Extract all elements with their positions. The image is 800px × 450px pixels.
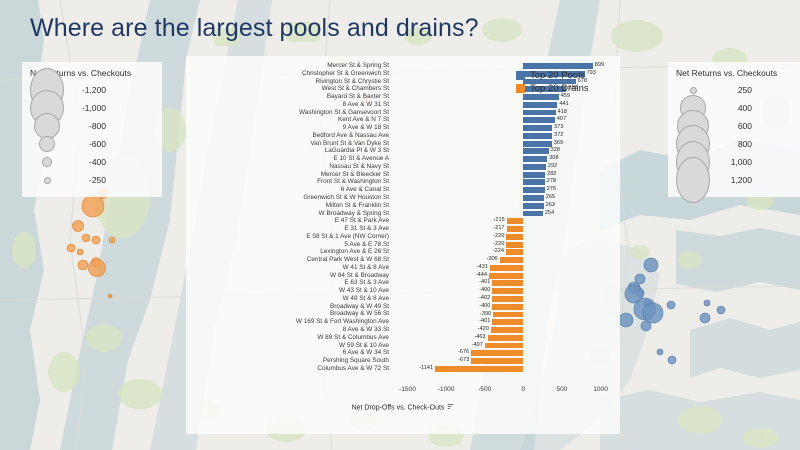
legend-right-value: 250 (710, 85, 752, 95)
bar-value-label: -673 (458, 357, 469, 365)
bar-track: 441 (392, 101, 616, 109)
bar-pool[interactable] (523, 125, 552, 131)
bar-pool[interactable] (523, 195, 543, 201)
legend-left-bubble-cell (30, 177, 64, 184)
page-title: Where are the largest pools and drains? (30, 14, 479, 43)
series-legend: Top 20 Pools Top 20 Drains (516, 70, 589, 96)
sort-ascending-icon[interactable] (447, 403, 454, 412)
bar-value-label: -390 (480, 311, 491, 319)
bar-track: 263 (392, 202, 616, 210)
bar-category-label: W 84 St & Broadway (186, 272, 389, 280)
bar-value-label: -431 (477, 264, 488, 272)
bar-pool[interactable] (523, 172, 545, 178)
map-bubble-pool[interactable] (700, 313, 710, 323)
map-bubble-pool[interactable] (641, 321, 651, 331)
bar-track: 292 (392, 163, 616, 171)
slide-root: Where are the largest pools and drains? … (0, 0, 800, 450)
bar-row[interactable]: E 58 St & 1 Ave (NW Corner)-220 (186, 233, 620, 241)
bar-category-label: E 47 St & Park Ave (186, 217, 389, 225)
map-bubble-drain[interactable] (73, 221, 84, 232)
legend-right-title: Net Returns vs. Checkouts (676, 68, 796, 78)
bar-row[interactable]: E 10 St & Avenue A308 (186, 155, 620, 163)
bar-value-label: -400 (479, 303, 490, 311)
x-axis-tick-label: 1000 (593, 386, 608, 393)
bar-category-label: W 169 St & Fort Washington Ave (186, 318, 389, 326)
bar-track: -673 (392, 357, 616, 365)
bar-category-label: 5 Ave & E 78 St (186, 241, 389, 249)
bar-track: 407 (392, 116, 616, 124)
map-bubble-pool[interactable] (644, 258, 658, 272)
bar-row[interactable]: W 169 St & Fort Washington Ave-401 (186, 318, 620, 326)
bar-chart-bars: Mercer St & Spring St899Christopher St &… (186, 62, 620, 392)
bar-drain[interactable] (506, 234, 523, 240)
legend-left-row: -600 (30, 135, 154, 153)
bar-row[interactable]: Van Brunt St & Van Dyke St369 (186, 140, 620, 148)
legend-net-returns-left: Net Returns vs. Checkouts -1,200-1,000-8… (22, 62, 162, 197)
legend-right-value: 1,200 (710, 175, 752, 185)
bar-value-label: 373 (554, 124, 563, 132)
legend-right-value: 1,000 (710, 157, 752, 167)
map-bubble-pool[interactable] (667, 301, 675, 309)
bar-row[interactable]: 9 Ave & W 18 St373 (186, 124, 620, 132)
bar-drain[interactable] (492, 296, 523, 302)
bar-track: -215 (392, 217, 616, 225)
bar-track: -420 (392, 326, 616, 334)
bar-drain[interactable] (435, 366, 523, 372)
bar-category-label: Pershing Square South (186, 357, 389, 365)
x-axis-tick-label: 500 (556, 386, 567, 393)
bar-drain[interactable] (471, 350, 523, 356)
bar-row[interactable]: 8 Ave & W 33 St-420 (186, 326, 620, 334)
bar-track: -444 (392, 272, 616, 280)
bar-value-label: -220 (493, 241, 504, 249)
bar-row[interactable]: Front St & Washington St278 (186, 178, 620, 186)
bar-drain[interactable] (506, 242, 523, 248)
bar-value-label: 276 (547, 186, 556, 194)
bar-drain[interactable] (492, 319, 523, 325)
x-axis-tick-label: 0 (521, 386, 525, 393)
legend-right-bubble-cell (676, 157, 710, 203)
bar-value-label: 372 (554, 132, 563, 140)
bar-row[interactable]: Milton St & Franklin St263 (186, 202, 620, 210)
bar-row[interactable]: Broadway & W 56 St-390 (186, 311, 620, 319)
bar-category-label: W Broadway & Spring St (186, 210, 389, 218)
legend-swatch-drains (516, 84, 525, 93)
bar-row[interactable]: Bedford Ave & Nassau Ave372 (186, 132, 620, 140)
bar-row[interactable]: Columbus Ave & W 72 St-1141 (186, 365, 620, 373)
bar-track: -497 (392, 342, 616, 350)
legend-right-value: 600 (710, 121, 752, 131)
legend-left-value: -250 (64, 175, 106, 185)
bar-drain[interactable] (491, 327, 523, 333)
bar-track: -676 (392, 349, 616, 357)
legend-right-bubble (690, 87, 697, 94)
bar-category-label: Bayard St & Baxter St (186, 93, 389, 101)
bar-category-label: W 49 St & 8 Ave (186, 295, 389, 303)
bar-drain[interactable] (492, 280, 523, 286)
bar-value-label: -402 (479, 295, 490, 303)
legend-left-row: -800 (30, 117, 154, 135)
bar-category-label: Kent Ave & N 7 St (186, 116, 389, 124)
bar-pool[interactable] (523, 156, 547, 162)
bar-row[interactable]: E 63 St & 3 Ave-401 (186, 279, 620, 287)
bar-category-label: Broadway & W 49 St (186, 303, 389, 311)
bar-row[interactable]: Greenwich St & W Houston St265 (186, 194, 620, 202)
x-axis-tick-label: -1000 (438, 386, 455, 393)
bar-drain[interactable] (488, 335, 524, 341)
bar-track: -402 (392, 295, 616, 303)
bar-pool[interactable] (523, 110, 555, 116)
bar-drain[interactable] (492, 288, 523, 294)
bar-track: -431 (392, 264, 616, 272)
map-bubble-drain[interactable] (109, 237, 115, 243)
bar-value-label: -306 (486, 256, 497, 264)
x-axis-title-text: Net Drop-Offs vs. Check-Outs (352, 404, 445, 411)
legend-left-bubble (42, 157, 52, 167)
bar-track: 899 (392, 62, 616, 70)
bar-category-label: Mercer St & Bleecker St (186, 171, 389, 179)
bar-category-label: Front St & Washington St (186, 178, 389, 186)
bar-track: 276 (392, 186, 616, 194)
bar-track: -400 (392, 287, 616, 295)
bar-value-label: -463 (474, 334, 485, 342)
bar-row[interactable]: Central Park West & W 68 St-306 (186, 256, 620, 264)
bar-value-label: 282 (547, 171, 556, 179)
bar-value-label: 899 (595, 62, 604, 70)
bar-value-label: 308 (549, 155, 558, 163)
bar-value-label: -1141 (419, 365, 433, 373)
legend-right-value: 800 (710, 139, 752, 149)
bar-pool[interactable] (523, 117, 554, 123)
bar-track: -220 (392, 233, 616, 241)
map-bubble-drain[interactable] (108, 294, 112, 298)
bar-track: -390 (392, 311, 616, 319)
legend-left-value: -400 (64, 157, 106, 167)
legend-left-value: -1,200 (64, 85, 106, 95)
bar-value-label: -444 (476, 272, 487, 280)
bar-category-label: 9 Ave & W 18 St (186, 124, 389, 132)
map-bubble-pool[interactable] (657, 349, 663, 355)
bar-value-label: 263 (546, 202, 555, 210)
bar-drain[interactable] (485, 343, 523, 349)
bar-value-label: 278 (547, 178, 556, 186)
bar-drain[interactable] (493, 312, 523, 318)
bar-pool[interactable] (523, 211, 543, 217)
bar-drain[interactable] (507, 226, 524, 232)
bar-drain[interactable] (489, 273, 523, 279)
bar-track: 328 (392, 147, 616, 155)
bar-value-label: -400 (479, 287, 490, 295)
legend-label-drains: Top 20 Drains (530, 83, 589, 94)
legend-swatch-pools (516, 71, 525, 80)
legend-left-row: -400 (30, 153, 154, 171)
bar-track: -217 (392, 225, 616, 233)
bar-track: -220 (392, 241, 616, 249)
map-bubble-pool[interactable] (643, 303, 663, 323)
map-bubble-pool[interactable] (668, 356, 676, 364)
map-bubble-drain[interactable] (77, 249, 83, 255)
bar-track: -400 (392, 303, 616, 311)
bar-value-label: -401 (479, 318, 490, 326)
legend-right-value: 400 (710, 103, 752, 113)
legend-left-rows: -1,200-1,000-800-600-400-250 (30, 81, 154, 189)
x-axis-tick-label: -1500 (399, 386, 416, 393)
bar-category-label: E 31 St & 3 Ave (186, 225, 389, 233)
bar-value-label: -215 (494, 217, 505, 225)
bar-category-label: 8 Ave & W 31 St (186, 101, 389, 109)
chart-panel: Mercer St & Spring St899Christopher St &… (186, 56, 620, 434)
legend-left-value: -1,000 (64, 103, 106, 113)
bar-category-label: 6 Ave & Canal St (186, 186, 389, 194)
legend-left-bubble (39, 136, 55, 152)
bar-track: 418 (392, 109, 616, 117)
bar-drain[interactable] (506, 249, 523, 255)
x-axis-ticks: -1500-1000-50005001000 (392, 386, 616, 400)
bar-value-label: -401 (479, 279, 490, 287)
map-bubble-drain[interactable] (82, 195, 104, 217)
bar-row[interactable]: W 84 St & Broadway-444 (186, 272, 620, 280)
bar-category-label: W 43 St & 10 Ave (186, 287, 389, 295)
bar-row[interactable]: W 43 St & 10 Ave-400 (186, 287, 620, 295)
bar-row[interactable]: W Broadway & Spring St254 (186, 210, 620, 218)
bar-row[interactable]: Kent Ave & N 7 St407 (186, 116, 620, 124)
legend-left-bubble-cell (30, 136, 64, 152)
bar-category-label: E 63 St & 3 Ave (186, 279, 389, 287)
bar-track: -463 (392, 334, 616, 342)
bar-row[interactable]: Nassau St & Navy St292 (186, 163, 620, 171)
map-bubble-pool[interactable] (619, 313, 633, 327)
bar-category-label: Central Park West & W 68 St (186, 256, 389, 264)
bar-category-label: Van Brunt St & Van Dyke St (186, 140, 389, 148)
bar-value-label: -220 (493, 233, 504, 241)
bar-row[interactable]: Lexington Ave & E 26 St-224 (186, 248, 620, 256)
bar-pool[interactable] (523, 179, 544, 185)
bar-row[interactable]: Mercer St & Bleecker St282 (186, 171, 620, 179)
bar-track: 369 (392, 140, 616, 148)
bar-value-label: -420 (478, 326, 489, 334)
bar-track: 265 (392, 194, 616, 202)
bar-value-label: -217 (493, 225, 504, 233)
bar-track: 308 (392, 155, 616, 163)
map-bubble-drain[interactable] (67, 244, 75, 252)
legend-right-bubble-cell (676, 87, 710, 94)
bar-category-label: Nassau St & Navy St (186, 163, 389, 171)
bar-value-label: 328 (551, 147, 560, 155)
bar-row[interactable]: E 47 St & Park Ave-215 (186, 217, 620, 225)
bar-row[interactable]: 6 Ave & Canal St276 (186, 186, 620, 194)
bar-track: 282 (392, 171, 616, 179)
bar-category-label: West St & Chambers St (186, 85, 389, 93)
bar-track: -401 (392, 318, 616, 326)
bar-category-label: E 10 St & Avenue A (186, 155, 389, 163)
legend-net-returns-right: Net Returns vs. Checkouts 2504006008001,… (668, 62, 800, 197)
legend-left-value: -600 (64, 139, 106, 149)
legend-right-rows: 2504006008001,0001,200 (676, 81, 796, 189)
bar-drain[interactable] (507, 218, 524, 224)
x-axis-tick-label: -500 (478, 386, 491, 393)
bar-track: 373 (392, 124, 616, 132)
bar-value-label: 418 (558, 109, 567, 117)
bar-value-label: -676 (458, 349, 469, 357)
bar-row[interactable]: Washington St & Gansevoort St418 (186, 109, 620, 117)
bar-value-label: 407 (557, 116, 566, 124)
bar-category-label: E 58 St & 1 Ave (NW Corner) (186, 233, 389, 241)
bar-category-label: Milton St & Franklin St (186, 202, 389, 210)
legend-left-bubble (44, 177, 51, 184)
x-axis: -1500-1000-50005001000 Net Drop-Offs vs.… (186, 386, 620, 426)
bar-category-label: W 41 St & 8 Ave (186, 264, 389, 272)
legend-label-pools: Top 20 Pools (530, 70, 585, 81)
x-axis-title: Net Drop-Offs vs. Check-Outs (186, 403, 620, 412)
bar-drain[interactable] (492, 304, 523, 310)
bar-row[interactable]: 8 Ave & W 31 St441 (186, 101, 620, 109)
bar-drain[interactable] (490, 265, 523, 271)
bar-row[interactable]: W 59 St & 10 Ave-497 (186, 342, 620, 350)
bar-category-label: Rivington St & Chrystie St (186, 78, 389, 86)
bar-pool[interactable] (523, 63, 592, 69)
map-bubble-pool[interactable] (704, 300, 710, 306)
bar-category-label: Bedford Ave & Nassau Ave (186, 132, 389, 140)
map-bubble-drain[interactable] (82, 234, 90, 242)
bar-category-label: Washington St & Gansevoort St (186, 109, 389, 117)
bar-pool[interactable] (523, 203, 543, 209)
bar-row[interactable]: Pershing Square South-673 (186, 357, 620, 365)
bar-row[interactable]: W 49 St & 8 Ave-402 (186, 295, 620, 303)
bar-pool[interactable] (523, 164, 546, 170)
bar-track: 372 (392, 132, 616, 140)
map-bubble-drain[interactable] (78, 260, 88, 270)
bar-row[interactable]: W 41 St & 8 Ave-431 (186, 264, 620, 272)
bar-row[interactable]: LaGuardia Pl & W 3 St328 (186, 147, 620, 155)
bar-value-label: 265 (546, 194, 555, 202)
bar-drain[interactable] (471, 358, 523, 364)
legend-left-value: -800 (64, 121, 106, 131)
bar-pool[interactable] (523, 187, 544, 193)
bar-category-label: Columbus Ave & W 72 St (186, 365, 389, 373)
legend-left-row: -250 (30, 171, 154, 189)
legend-item-pools[interactable]: Top 20 Pools (516, 70, 589, 81)
bar-row[interactable]: Mercer St & Spring St899 (186, 62, 620, 70)
bar-category-label: 6 Ave & W 34 St (186, 349, 389, 357)
bar-row[interactable]: W 89 St & Columbus Ave-463 (186, 334, 620, 342)
bar-category-label: LaGuardia Pl & W 3 St (186, 147, 389, 155)
bar-track: 254 (392, 210, 616, 218)
bar-track: 278 (392, 178, 616, 186)
bar-category-label: Mercer St & Spring St (186, 62, 389, 70)
bar-track: -306 (392, 256, 616, 264)
bar-value-label: 292 (548, 163, 557, 171)
legend-right-bubble (676, 157, 710, 203)
bar-value-label: 441 (559, 101, 568, 109)
bar-value-label: -224 (493, 248, 504, 256)
legend-right-row: 1,200 (676, 171, 796, 189)
bar-value-label: 254 (545, 210, 554, 218)
bar-track: -401 (392, 279, 616, 287)
bar-row[interactable]: 5 Ave & E 78 St-220 (186, 241, 620, 249)
map-bubble-drain[interactable] (89, 260, 106, 277)
bar-row[interactable]: E 31 St & 3 Ave-217 (186, 225, 620, 233)
legend-item-drains[interactable]: Top 20 Drains (516, 83, 589, 94)
bar-pool[interactable] (523, 102, 557, 108)
bar-category-label: Lexington Ave & E 26 St (186, 248, 389, 256)
legend-left-bubble-cell (30, 157, 64, 167)
bar-row[interactable]: 6 Ave & W 34 St-676 (186, 349, 620, 357)
bar-category-label: Broadway & W 56 St (186, 310, 389, 318)
bar-category-label: W 89 St & Columbus Ave (186, 334, 389, 342)
bar-category-label: Christopher St & Greenwich St (186, 70, 389, 78)
bar-value-label: 369 (554, 140, 563, 148)
bar-row[interactable]: Broadway & W 49 St-400 (186, 303, 620, 311)
bar-category-label: Greenwich St & W Houston St (186, 194, 389, 202)
bar-drain[interactable] (500, 257, 524, 263)
map-bubble-drain[interactable] (92, 236, 100, 244)
bar-category-label: W 59 St & 10 Ave (186, 342, 389, 350)
bar-pool[interactable] (523, 148, 548, 154)
bar-value-label: -497 (472, 342, 483, 350)
bar-pool[interactable] (523, 141, 552, 147)
bar-category-label: 8 Ave & W 33 St (186, 326, 389, 334)
bar-track: -1141 (392, 365, 616, 373)
bar-track: -224 (392, 248, 616, 256)
map-bubble-pool[interactable] (717, 306, 725, 314)
bar-pool[interactable] (523, 133, 552, 139)
